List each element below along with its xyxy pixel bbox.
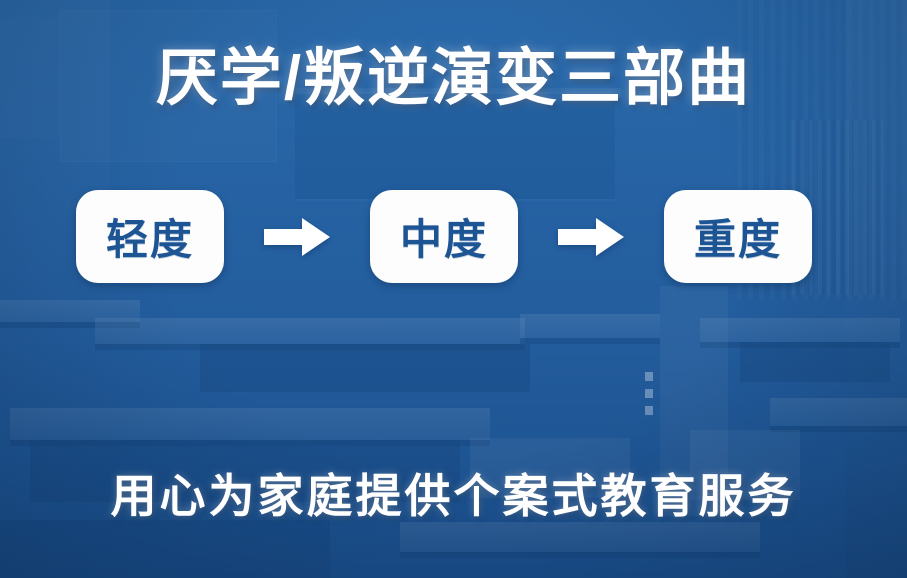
poster-content: 厌学/叛逆演变三部曲 轻度 中度 重度 用心为家庭提 [0,0,907,578]
poster-headline: 厌学/叛逆演变三部曲 [0,46,907,111]
arrow-right-icon [260,215,334,259]
arrow-right-icon [554,215,628,259]
stage-badge-moderate[interactable]: 中度 [370,190,518,283]
stage-badge-label: 轻度 [106,206,194,267]
stage-badge-mild[interactable]: 轻度 [76,190,224,283]
poster-canvas: 厌学/叛逆演变三部曲 轻度 中度 重度 用心为家庭提 [0,0,907,578]
stage-badge-label: 重度 [694,206,782,267]
stage-progression: 轻度 中度 重度 [76,190,812,283]
stage-badge-label: 中度 [400,206,488,267]
stage-badge-severe[interactable]: 重度 [664,190,812,283]
poster-tagline: 用心为家庭提供个案式教育服务 [0,460,907,526]
